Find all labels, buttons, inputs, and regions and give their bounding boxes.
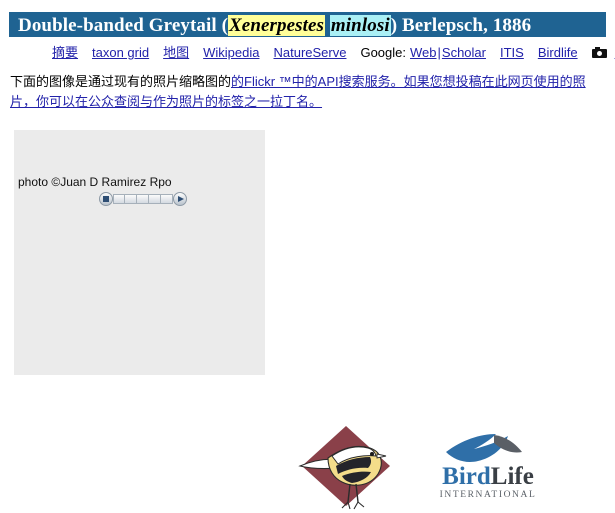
slideshow-segment[interactable]: [113, 194, 125, 204]
title-genus: Xenerpestes: [228, 15, 325, 36]
slideshow-segment[interactable]: [161, 194, 173, 204]
birdlife-logo: BirdLife INTERNATIONAL: [432, 430, 544, 502]
nav-link-natureserve[interactable]: NatureServe: [273, 45, 346, 60]
slideshow-segment[interactable]: [125, 194, 137, 204]
page-title: Double-banded Greytail (Xenerpestes minl…: [9, 12, 606, 37]
slideshow-segment[interactable]: [149, 194, 161, 204]
navigation-links: 摘要taxon grid地图WikipediaNatureServeGoogle…: [0, 42, 615, 62]
photo-panel[interactable]: photo ©Juan D Ramirez Rpo: [14, 130, 265, 375]
title-common-name: Double-banded Greytail (: [18, 15, 228, 36]
nav-link-google-web[interactable]: Web: [410, 45, 437, 60]
bird-diamond-svg: [298, 422, 394, 510]
play-triangle-icon: [178, 196, 184, 202]
camera-icon: [592, 47, 607, 58]
camera-lens: [597, 51, 602, 56]
nav-label-google: Google:: [360, 45, 406, 60]
nav-link-google-scholar[interactable]: Scholar: [442, 45, 486, 60]
intro-paragraph: 下面的图像是通过现有的照片缩略图的的Flickr ™中的API搜索服务。如果您想…: [10, 72, 610, 112]
photo-credit: photo ©Juan D Ramirez Rpo: [18, 175, 172, 189]
nav-link-map[interactable]: 地图: [163, 45, 189, 60]
page-title-bar: Double-banded Greytail (Xenerpestes minl…: [9, 12, 606, 37]
birdlife-wordmark: BirdLife: [432, 464, 544, 490]
intro-plain-text: 下面的图像是通过现有的照片缩略图的: [10, 74, 231, 89]
slideshow-control[interactable]: [99, 192, 187, 206]
intro-tag-link[interactable]: 公众查阅与作为照片的标签之一拉丁名。: [88, 94, 322, 109]
birdlife-word-life: Life: [491, 463, 534, 490]
birdlife-bird-mark: [432, 430, 544, 466]
nav-link-birdlife[interactable]: Birdlife: [538, 45, 578, 60]
birdlife-subtitle: INTERNATIONAL: [432, 490, 544, 500]
bird-diamond-logo: [298, 422, 394, 510]
nav-link-summary[interactable]: 摘要: [52, 45, 78, 60]
birdlife-word-bird: Bird: [442, 463, 491, 490]
title-species: minlosi: [330, 15, 391, 36]
title-authority: ) Berlepsch, 1886: [391, 15, 532, 36]
slideshow-stop-button[interactable]: [99, 192, 113, 206]
slideshow-segment[interactable]: [137, 194, 149, 204]
nav-link-wikipedia[interactable]: Wikipedia: [203, 45, 259, 60]
nav-link-taxon-grid[interactable]: taxon grid: [92, 45, 149, 60]
nav-link-itis[interactable]: ITIS: [500, 45, 524, 60]
footer-logo-row: BirdLife INTERNATIONAL: [0, 418, 615, 511]
nav-separator: |: [438, 45, 441, 60]
stop-square-icon: [103, 196, 109, 202]
slideshow-play-button[interactable]: [173, 192, 187, 206]
